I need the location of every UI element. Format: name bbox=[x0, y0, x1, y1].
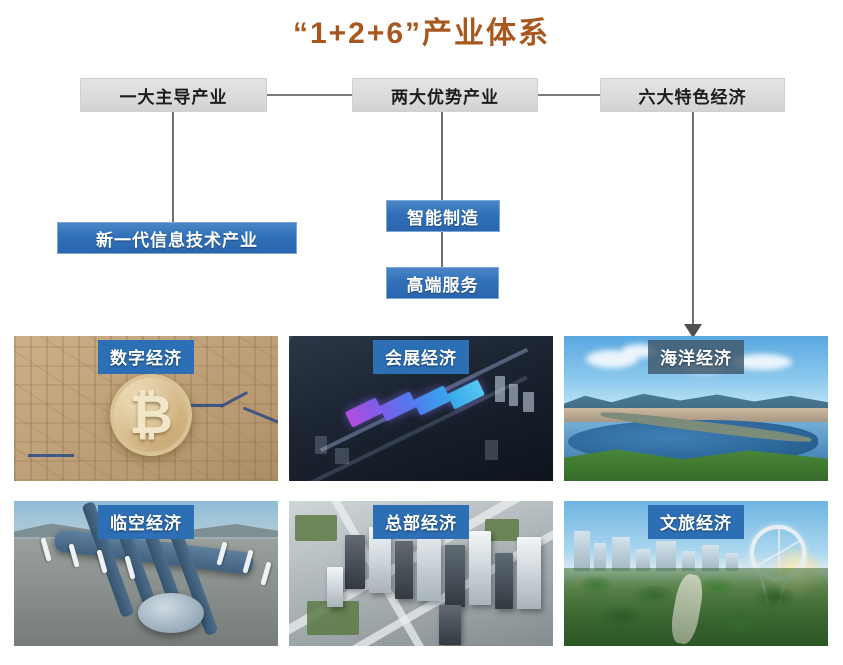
economy-tile-label: 文旅经济 bbox=[648, 505, 744, 539]
connector-line-to-high-end-services bbox=[441, 232, 443, 267]
economy-tile-label: 数字经济 bbox=[98, 340, 194, 374]
industry-box-info-tech[interactable]: 新一代信息技术产业 bbox=[57, 222, 297, 254]
page-title: “1+2+6”产业体系 bbox=[0, 8, 843, 52]
economy-tile-digital[interactable]: ₿ 数字经济 bbox=[14, 336, 278, 481]
economy-tile-label: 临空经济 bbox=[98, 505, 194, 539]
economy-tile-tourism[interactable]: 文旅经济 bbox=[564, 501, 828, 646]
industry-box-high-end-services[interactable]: 高端服务 bbox=[386, 267, 499, 299]
connector-line-tier2-tier3 bbox=[538, 94, 600, 96]
economy-tile-headquarters[interactable]: 总部经济 bbox=[289, 501, 553, 646]
connector-arrow-to-economies bbox=[692, 112, 694, 327]
connector-line-to-info-tech bbox=[172, 112, 174, 222]
bitcoin-icon: ₿ bbox=[110, 374, 192, 456]
economy-tile-label: 海洋经济 bbox=[648, 340, 744, 374]
economy-tile-expo[interactable]: 会展经济 bbox=[289, 336, 553, 481]
economy-tile-ocean[interactable]: 海洋经济 bbox=[564, 336, 828, 481]
economy-tile-airport[interactable]: 临空经济 bbox=[14, 501, 278, 646]
tier-box-leading-industry[interactable]: 一大主导产业 bbox=[80, 78, 267, 112]
connector-line-to-smart-manufacturing bbox=[441, 112, 443, 200]
connector-line-tier1-tier2 bbox=[267, 94, 352, 96]
infographic-canvas: “1+2+6”产业体系 一大主导产业 两大优势产业 六大特色经济 新一代信息技术… bbox=[0, 0, 843, 665]
industry-box-smart-manufacturing[interactable]: 智能制造 bbox=[386, 200, 500, 232]
tier-box-characteristic-economies[interactable]: 六大特色经济 bbox=[600, 78, 785, 112]
tier-box-advantage-industries[interactable]: 两大优势产业 bbox=[352, 78, 538, 112]
economy-tile-label: 会展经济 bbox=[373, 340, 469, 374]
economy-tile-label: 总部经济 bbox=[373, 505, 469, 539]
